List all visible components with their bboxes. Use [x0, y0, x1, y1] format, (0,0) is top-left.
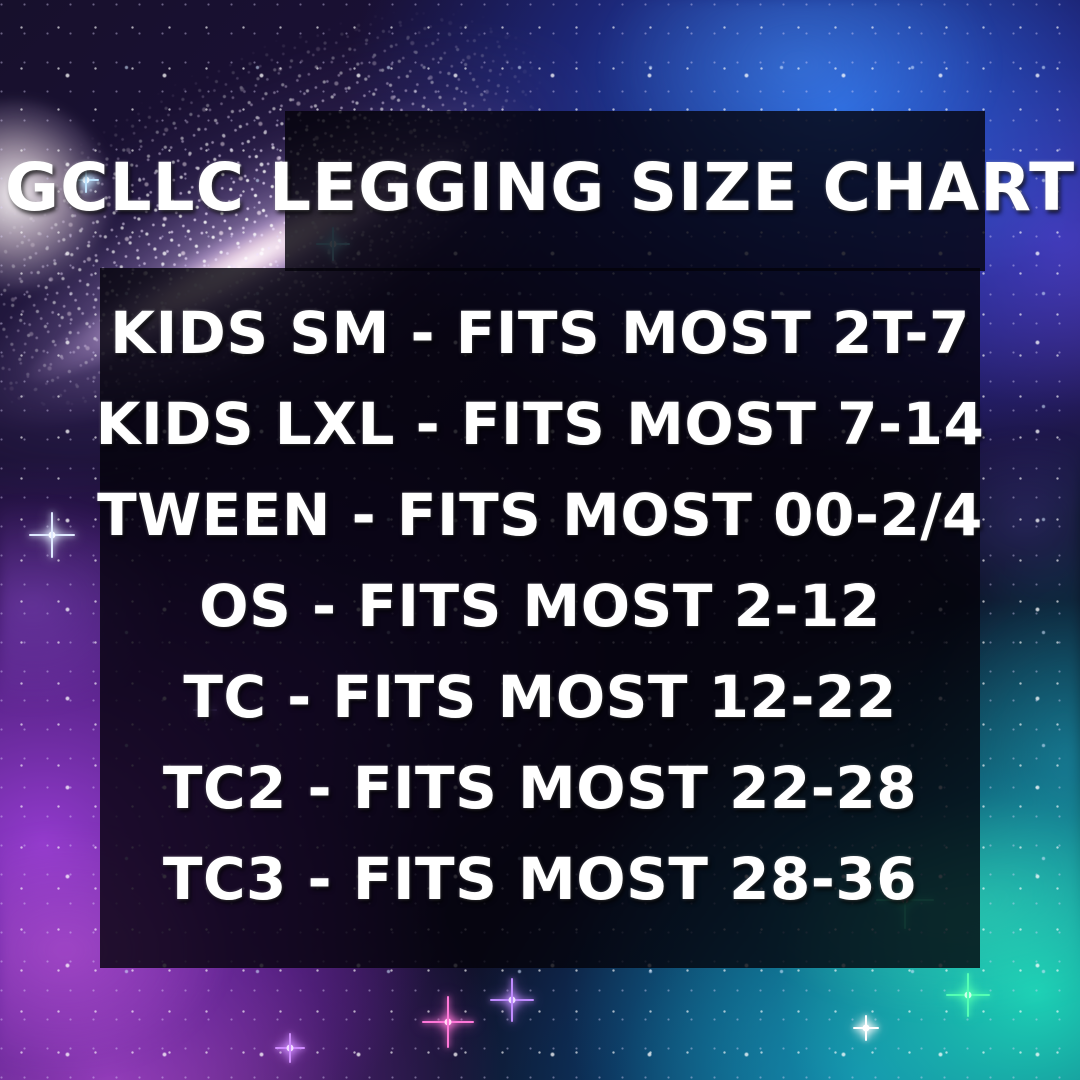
size-row: KIDS SM - FITS MOST 2T-7: [110, 288, 970, 379]
size-row: TC2 - FITS MOST 22-28: [163, 743, 917, 834]
chart-content: GCLLC LEGGING SIZE CHART KIDS SM - FITS …: [0, 0, 1080, 1080]
page-title: GCLLC LEGGING SIZE CHART: [0, 155, 1080, 221]
size-row: TC - FITS MOST 12-22: [183, 652, 896, 743]
size-row: OS - FITS MOST 2-12: [199, 561, 880, 652]
size-chart-canvas: GCLLC LEGGING SIZE CHART KIDS SM - FITS …: [0, 0, 1080, 1080]
size-list: KIDS SM - FITS MOST 2T-7KIDS LXL - FITS …: [0, 288, 1080, 925]
size-row: KIDS LXL - FITS MOST 7-14: [96, 379, 985, 470]
size-row: TC3 - FITS MOST 28-36: [163, 834, 917, 925]
size-row: TWEEN - FITS MOST 00-2/4: [97, 470, 983, 561]
